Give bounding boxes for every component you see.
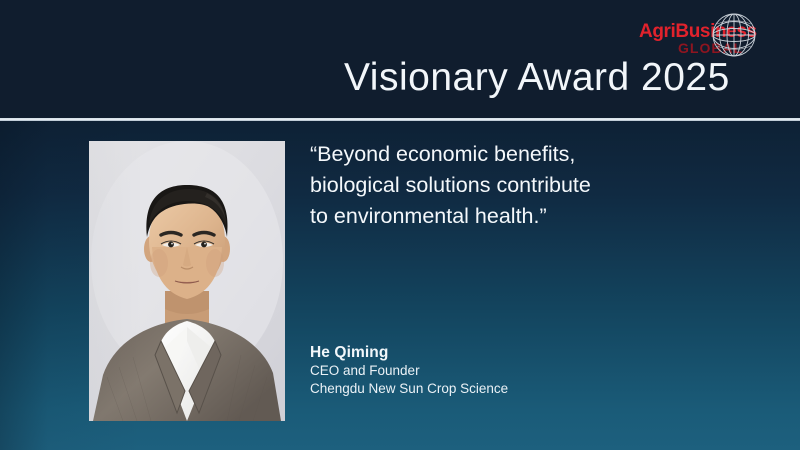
attribution-organization: Chengdu New Sun Crop Science	[310, 380, 710, 398]
globe-wireframe-icon	[709, 10, 759, 60]
slide-body: “Beyond economic benefits, biological so…	[0, 121, 800, 450]
quote-line-3: to environmental health.”	[310, 201, 710, 232]
page-title: Visionary Award 2025	[344, 58, 730, 97]
agribusiness-global-logo: AgriBusiness GLOBAL	[630, 8, 770, 60]
award-slide: Visionary Award 2025 AgriBusiness GLOBAL	[0, 0, 800, 450]
quote-line-1: “Beyond economic benefits,	[310, 139, 710, 170]
attribution-block: He Qiming CEO and Founder Chengdu New Su…	[310, 343, 710, 398]
quote-line-2: biological solutions contribute	[310, 170, 710, 201]
attribution-name: He Qiming	[310, 343, 710, 362]
portrait-photo	[89, 141, 285, 421]
slide-header: Visionary Award 2025 AgriBusiness GLOBAL	[0, 0, 800, 118]
attribution-role: CEO and Founder	[310, 362, 710, 380]
quote-text: “Beyond economic benefits, biological so…	[310, 139, 710, 232]
